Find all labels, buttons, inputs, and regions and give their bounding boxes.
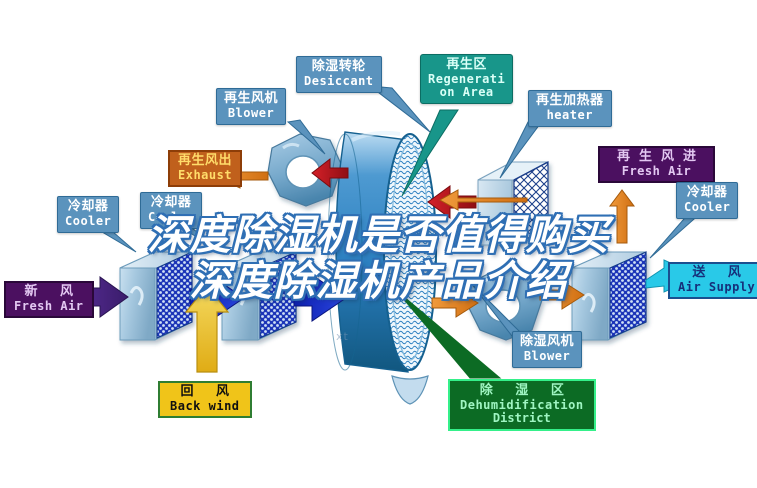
label-air-supply[interactable]: 送 风 Air Supply [668, 262, 757, 299]
label-dehumidification-district-en2: District [460, 412, 584, 425]
label-cooler-right-cn: 冷却器 [684, 186, 730, 201]
label-regeneration-fresh-air[interactable]: 再生风进 Fresh Air [598, 146, 715, 183]
label-regeneration-heater-cn: 再生加热器 [536, 94, 604, 109]
label-fresh-air-inlet[interactable]: 新 风 Fresh Air [4, 281, 94, 318]
label-cooler-left-near-en: Cooler [148, 211, 194, 224]
label-cooler-left-far[interactable]: 冷却器 Cooler [57, 196, 119, 233]
label-fresh-air-inlet-cn: 新 风 [14, 285, 84, 300]
label-cooler-left-near-cn: 冷却器 [148, 196, 194, 211]
label-cooler-right-en: Cooler [684, 201, 730, 214]
diagram-canvas: xt 除湿转轮 Desiccant 再生风机 Blower 再生区 Regene… [0, 0, 757, 488]
label-dehumidification-blower[interactable]: 除湿风机 Blower [512, 331, 582, 368]
label-regeneration-blower[interactable]: 再生风机 Blower [216, 88, 286, 125]
label-cooler-left-far-en: Cooler [65, 215, 111, 228]
label-regeneration-fresh-air-cn: 再生风进 [608, 150, 705, 165]
label-air-supply-cn: 送 风 [678, 266, 755, 281]
label-desiccant-rotor-en: Desiccant [304, 75, 374, 88]
dehumidification-blower-unit [468, 268, 542, 340]
label-regeneration-area-cn: 再生区 [428, 58, 505, 73]
label-desiccant-rotor[interactable]: 除湿转轮 Desiccant [296, 56, 382, 93]
label-regeneration-blower-cn: 再生风机 [224, 92, 278, 107]
label-air-supply-en: Air Supply [678, 281, 755, 294]
cooler-coil-left-1 [120, 252, 192, 340]
label-back-wind-cn: 回 风 [170, 385, 240, 400]
label-cooler-left-far-cn: 冷却器 [65, 200, 111, 215]
label-regeneration-fresh-air-en: Fresh Air [608, 165, 705, 178]
label-dehumidification-district[interactable]: 除 湿 区 Dehumidification District [448, 379, 596, 431]
label-dehumidification-blower-en: Blower [520, 350, 574, 363]
label-dehumidification-district-cn: 除 湿 区 [460, 384, 584, 399]
label-regeneration-heater-en: heater [536, 109, 604, 122]
label-regeneration-heater[interactable]: 再生加热器 heater [528, 90, 612, 127]
label-exhaust-cn: 再生风出 [178, 154, 232, 169]
label-dehumidification-blower-cn: 除湿风机 [520, 335, 574, 350]
watermark-text: xt [336, 330, 349, 343]
label-back-wind-en: Back wind [170, 400, 240, 413]
label-regeneration-area-en: Regenerati [428, 73, 505, 86]
label-regeneration-area[interactable]: 再生区 Regenerati on Area [420, 54, 513, 104]
label-exhaust-en: Exhaust [178, 169, 232, 182]
label-exhaust[interactable]: 再生风出 Exhaust [168, 150, 242, 187]
label-regeneration-blower-en: Blower [224, 107, 278, 120]
label-fresh-air-inlet-en: Fresh Air [14, 300, 84, 313]
label-dehumidification-district-en: Dehumidification [460, 399, 584, 412]
label-cooler-left-near[interactable]: 冷却器 Cooler [140, 192, 202, 229]
label-cooler-right[interactable]: 冷却器 Cooler [676, 182, 738, 219]
label-regeneration-area-en2: on Area [428, 86, 505, 99]
label-desiccant-rotor-cn: 除湿转轮 [304, 60, 374, 75]
label-back-wind[interactable]: 回 风 Back wind [158, 381, 252, 418]
